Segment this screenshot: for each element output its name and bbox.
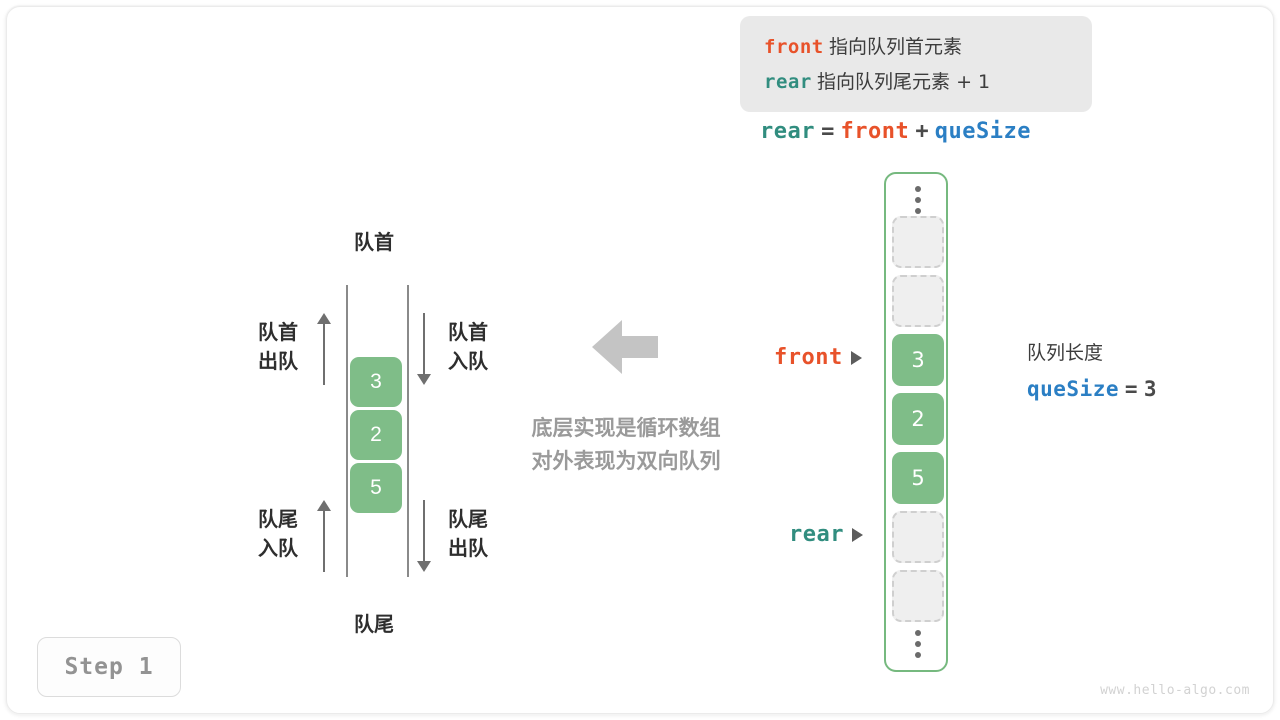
deque-cell-1: 2 [350, 410, 402, 460]
arrow-down-front-enqueue-icon [416, 313, 432, 387]
pointer-front-arrow-icon [851, 351, 862, 365]
deque-cell-2: 5 [350, 463, 402, 513]
deque-cell-0: 3 [350, 357, 402, 407]
array-cell-3: 2 [892, 393, 944, 445]
deque-op-rear-dequeue-text: 队尾 出队 [448, 507, 488, 560]
legend-desc-rear: 指向队列尾元素 + 1 [817, 71, 990, 93]
caption-line-1: 底层实现是循环数组 [504, 412, 748, 445]
quesize-note-value: queSize = 3 [1027, 372, 1157, 407]
pointer-rear-label: rear [789, 522, 844, 547]
formula-rhs-front: front [840, 119, 909, 144]
watermark: www.hello-algo.com [1100, 683, 1250, 698]
circular-array-container: 3 2 5 [884, 172, 948, 672]
pointer-front-label: front [774, 345, 843, 370]
formula-lhs: rear [760, 119, 815, 144]
bottom-ellipsis-icon [886, 624, 950, 664]
deque-top-label: 队首 [314, 228, 434, 257]
deque-rail-right [407, 285, 409, 577]
legend-desc-front: 指向队列首元素 [829, 36, 962, 58]
arrow-up-front-dequeue-icon [316, 313, 332, 387]
deque-op-rear-enqueue-text: 队尾 入队 [258, 507, 298, 560]
abstraction-arrow-icon [592, 320, 658, 374]
array-cell-5 [892, 511, 944, 563]
deque-op-front-dequeue-text: 队首 出队 [258, 320, 298, 373]
legend-line-rear: rear 指向队列尾元素 + 1 [764, 65, 1070, 100]
array-cell-6 [892, 570, 944, 622]
array-cell-4: 5 [892, 452, 944, 504]
quesize-equals: = [1125, 377, 1138, 401]
quesize-note: 队列长度 queSize = 3 [1027, 338, 1157, 407]
formula-plus: + [915, 119, 928, 144]
array-cell-1 [892, 275, 944, 327]
diagram-canvas: front 指向队列首元素 rear 指向队列尾元素 + 1 rear = fr… [0, 0, 1280, 720]
deque-op-front-dequeue-label: 队首 出队 [218, 318, 298, 376]
pointer-rear: rear [789, 522, 863, 547]
deque-bottom-label: 队尾 [314, 610, 434, 639]
legend-term-front: front [764, 36, 824, 58]
center-caption: 底层实现是循环数组 对外表现为双向队列 [504, 412, 748, 478]
pointer-rear-arrow-icon [852, 528, 863, 542]
deque-op-rear-dequeue-label: 队尾 出队 [448, 505, 538, 563]
formula-rhs-quesize: queSize [935, 119, 1031, 144]
array-cell-2: 3 [892, 334, 944, 386]
deque-op-front-enqueue-label: 队首 入队 [448, 318, 538, 376]
caption-line-2: 对外表现为双向队列 [504, 445, 748, 478]
legend-box: front 指向队列首元素 rear 指向队列尾元素 + 1 [740, 16, 1092, 112]
step-badge: Step 1 [37, 637, 181, 697]
quesize-note-title: 队列长度 [1027, 338, 1157, 368]
quesize-number: 3 [1144, 377, 1157, 401]
array-cell-0 [892, 216, 944, 268]
pointer-front: front [774, 345, 862, 370]
formula-rear-equals: rear = front + queSize [760, 118, 1031, 144]
top-ellipsis-icon [886, 180, 950, 220]
legend-line-front: front 指向队列首元素 [764, 30, 1070, 65]
quesize-var: queSize [1027, 377, 1119, 401]
arrow-up-rear-enqueue-icon [316, 500, 332, 574]
formula-equals: = [821, 119, 834, 144]
deque-op-rear-enqueue-label: 队尾 入队 [218, 505, 298, 563]
legend-term-rear: rear [764, 71, 812, 93]
arrow-down-rear-dequeue-icon [416, 500, 432, 574]
deque-op-front-enqueue-text: 队首 入队 [448, 320, 488, 373]
deque-rail-left [346, 285, 348, 577]
